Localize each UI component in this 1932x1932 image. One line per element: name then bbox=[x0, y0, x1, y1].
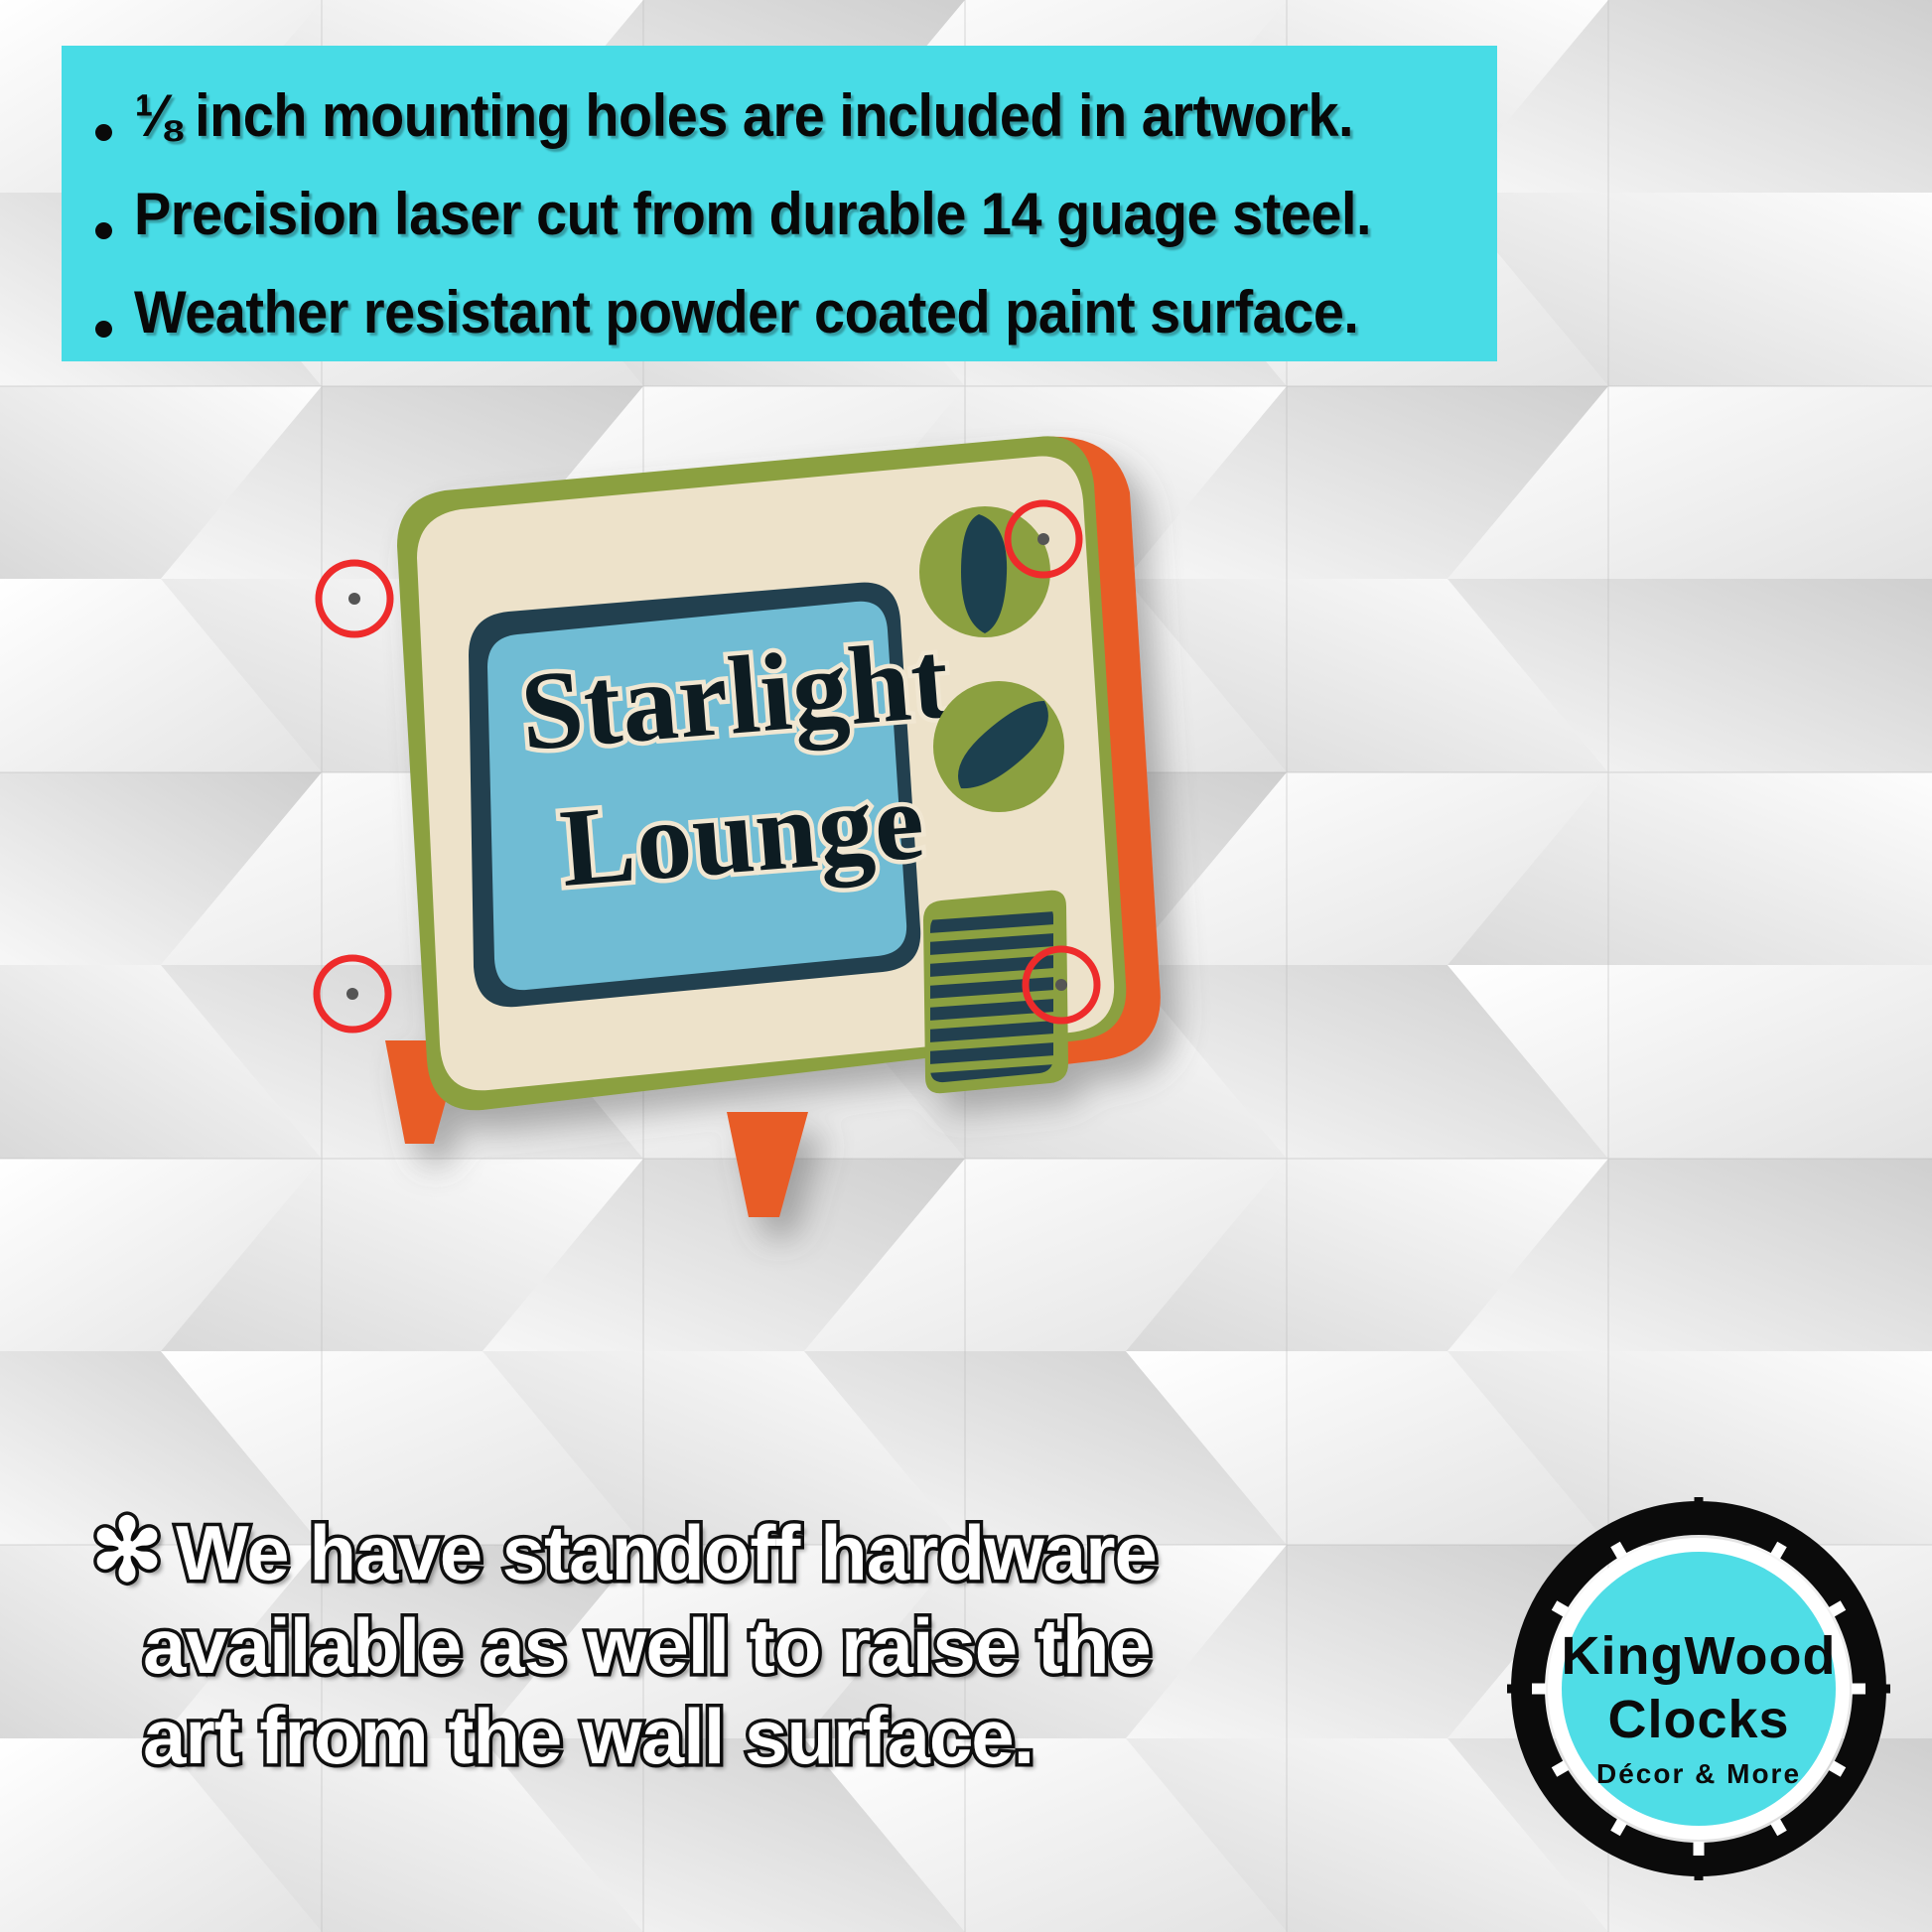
logo-badge: KingWood Clocks Décor & More bbox=[1505, 1495, 1892, 1882]
feature-bullet-1: ⅛ inch mounting holes are included in ar… bbox=[95, 86, 1467, 146]
feature-bullet-1-text: ⅛ inch mounting holes are included in ar… bbox=[134, 86, 1353, 146]
logo-tagline: Décor & More bbox=[1596, 1758, 1801, 1789]
feature-bullet-3: Weather resistant powder coated paint su… bbox=[95, 283, 1467, 343]
bullet-dot-icon bbox=[95, 222, 112, 239]
product-marketing-image: ⅛ inch mounting holes are included in ar… bbox=[0, 0, 1932, 1932]
bullet-dot-icon bbox=[95, 124, 112, 141]
feature-bullet-2-text: Precision laser cut from durable 14 guag… bbox=[134, 185, 1371, 244]
tv-knob-bottom bbox=[933, 681, 1064, 812]
note-line-3-text: art from the wall surface. bbox=[91, 1692, 1263, 1782]
feature-bullet-2: Precision laser cut from durable 14 guag… bbox=[95, 185, 1467, 244]
tv-illustration: Starlight Lounge bbox=[278, 397, 1271, 1221]
standoff-hardware-note: ✻We have standoff hardware available as … bbox=[91, 1501, 1263, 1782]
feature-bullet-3-text: Weather resistant powder coated paint su… bbox=[134, 283, 1358, 343]
tv-speaker-grille bbox=[913, 891, 1082, 1109]
note-line-1-text: We have standoff hardware bbox=[176, 1509, 1157, 1596]
tv-leg-right bbox=[727, 1112, 808, 1217]
tv-body-group: Starlight Lounge bbox=[385, 436, 1161, 1217]
logo-name-line-2: Clocks bbox=[1607, 1690, 1789, 1749]
bullet-dot-icon bbox=[95, 321, 112, 338]
retro-tv-sign-artwork: Starlight Lounge bbox=[278, 397, 1271, 1221]
features-banner: ⅛ inch mounting holes are included in ar… bbox=[62, 46, 1497, 361]
logo-name-line-1: KingWood bbox=[1562, 1626, 1837, 1686]
note-line-2-text: available as well to raise the bbox=[91, 1601, 1263, 1692]
kingwood-clocks-logo[interactable]: KingWood Clocks Décor & More bbox=[1505, 1495, 1892, 1882]
note-line-1: ✻We have standoff hardware bbox=[91, 1501, 1263, 1601]
asterisk-icon: ✻ bbox=[91, 1503, 176, 1598]
